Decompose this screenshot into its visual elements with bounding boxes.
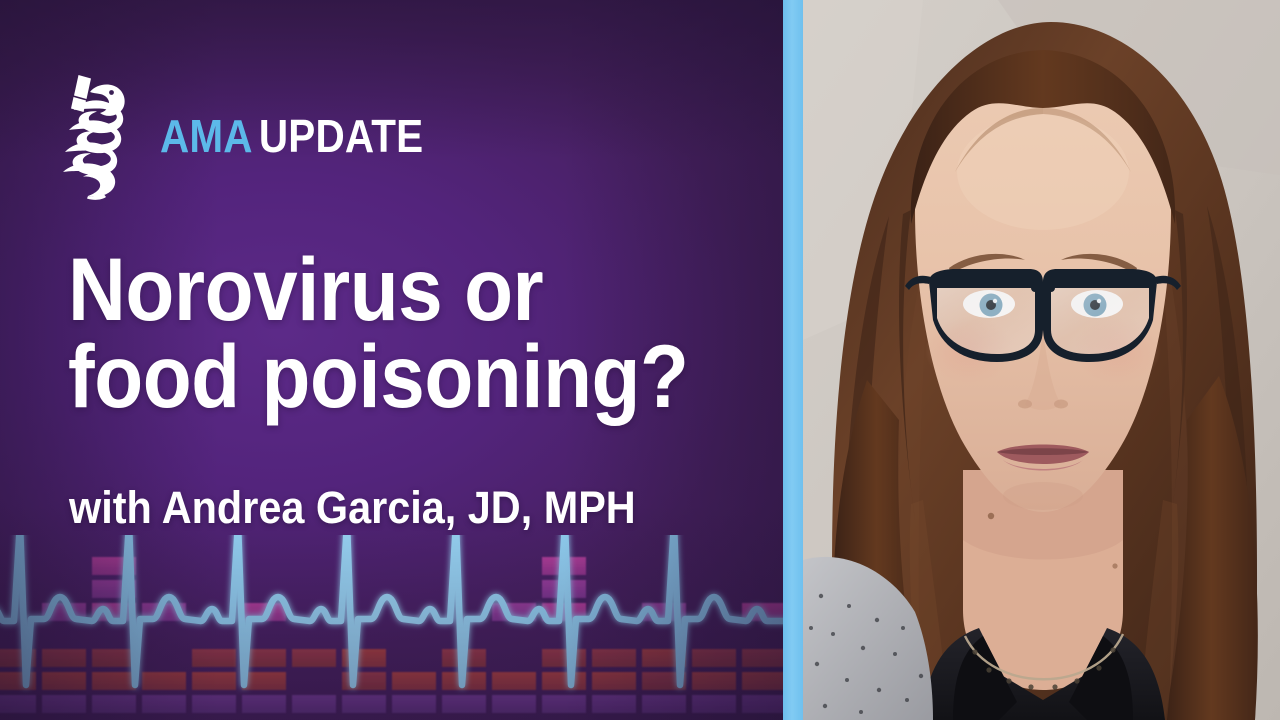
page-title: Norovirus or food poisoning?: [68, 246, 698, 420]
equalizer-ekg-graphic: [0, 535, 783, 720]
left-title-panel: AMAUPDATE Norovirus or food poisoning? w…: [0, 0, 783, 720]
speaker-portrait: [803, 0, 1280, 720]
page-subtitle: with Andrea Garcia, JD, MPH: [69, 485, 636, 530]
title-line-2: food poisoning?: [68, 333, 698, 420]
ama-logo-block: AMAUPDATE: [50, 72, 459, 200]
ama-update-wordmark: AMAUPDATE: [160, 113, 423, 159]
wordmark-ama: AMA: [160, 110, 253, 162]
vertical-divider: [783, 0, 803, 720]
rod-of-asclepius-icon: [50, 72, 134, 200]
video-thumbnail: AMAUPDATE Norovirus or food poisoning? w…: [0, 0, 1280, 720]
equalizer-bars: [0, 557, 783, 713]
title-line-1: Norovirus or: [68, 246, 698, 333]
wordmark-update: UPDATE: [259, 110, 423, 162]
